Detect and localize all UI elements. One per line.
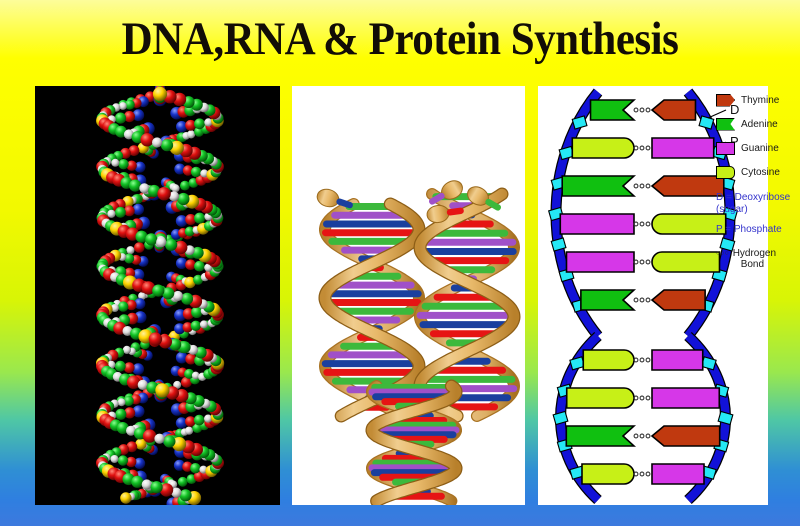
atom-H bbox=[138, 380, 148, 390]
atom-O bbox=[143, 429, 156, 442]
dna-replication-illustration bbox=[292, 86, 525, 505]
atom-O bbox=[185, 259, 196, 270]
atom-C bbox=[194, 261, 205, 272]
atom-O bbox=[141, 133, 154, 146]
atom-C bbox=[165, 239, 177, 251]
atom-C bbox=[181, 293, 193, 305]
legend-note: (sugar) bbox=[716, 204, 800, 216]
legend-swatch bbox=[716, 166, 735, 179]
base-round-tab bbox=[652, 252, 719, 272]
atom-C bbox=[178, 477, 188, 487]
legend-label: Guanine bbox=[741, 143, 779, 154]
atom-H bbox=[152, 137, 162, 147]
base-round-tab bbox=[572, 138, 634, 158]
atom-C bbox=[180, 489, 192, 501]
base-arrow-notch bbox=[562, 176, 634, 196]
atom-C bbox=[190, 463, 200, 473]
base-flat-tab bbox=[652, 350, 703, 370]
atom-H bbox=[185, 427, 193, 435]
atom-H bbox=[156, 237, 166, 247]
atom-C bbox=[115, 113, 126, 124]
base-round-tab bbox=[582, 464, 634, 484]
dna-helix bbox=[420, 194, 514, 416]
atom-H bbox=[187, 130, 195, 138]
hydrogen-bond-line2: Bond bbox=[741, 259, 776, 270]
atom-C bbox=[152, 285, 164, 297]
atom-C bbox=[118, 301, 128, 311]
legend-swatch bbox=[716, 94, 735, 107]
atom-H bbox=[107, 210, 115, 218]
base-round-tab bbox=[583, 350, 634, 370]
legend-item-cytosine: Cytosine bbox=[716, 162, 800, 182]
atom-C bbox=[151, 481, 163, 493]
legend-notes: D = Deoxyribose(sugar)P = Phosphate bbox=[716, 192, 800, 236]
base-arrow-point bbox=[652, 290, 705, 310]
legend-label: Cytosine bbox=[741, 167, 780, 178]
atom-C bbox=[145, 233, 157, 245]
legend-item-adenine: Adenine bbox=[716, 114, 800, 134]
atom-H bbox=[139, 183, 149, 193]
panel-molecular-model bbox=[35, 86, 280, 505]
legend-panel: ThymineAdenineGuanineCytosineD = Deoxyri… bbox=[716, 90, 800, 270]
atom-H bbox=[142, 479, 152, 489]
hydrogen-bond-dots: ○○○ bbox=[716, 248, 729, 260]
atom-P bbox=[153, 87, 167, 101]
legend-swatch bbox=[716, 142, 735, 155]
hydrogen-bond-text: HydrogenBond bbox=[733, 248, 776, 270]
atom-P bbox=[120, 492, 131, 503]
legend-swatch bbox=[716, 118, 735, 131]
atom-H bbox=[111, 159, 119, 167]
hydrogen-bond-line1: Hydrogen bbox=[733, 248, 776, 259]
atom-C bbox=[191, 167, 201, 177]
base-round-tab bbox=[567, 388, 634, 408]
atom-C bbox=[129, 180, 141, 192]
legend-hydrogen-bond: ○○○HydrogenBond bbox=[716, 248, 800, 270]
panel-replication bbox=[292, 86, 525, 505]
page-title: DNA,RNA & Protein Synthesis bbox=[122, 13, 679, 66]
atom-C bbox=[118, 159, 128, 169]
atom-C bbox=[161, 139, 173, 151]
atom-C bbox=[131, 476, 143, 488]
atom-C bbox=[115, 207, 126, 218]
legend-note: P = Phosphate bbox=[716, 224, 800, 236]
legend-label: Adenine bbox=[741, 119, 778, 130]
atom-C bbox=[194, 118, 205, 129]
legend-item-guanine: Guanine bbox=[716, 138, 800, 158]
base-flat-tab bbox=[567, 252, 634, 272]
atom-H bbox=[126, 246, 134, 254]
legend-note: D = Deoxyribose bbox=[716, 192, 800, 204]
poster-canvas: DNA,RNA & Protein Synthesis bbox=[0, 0, 800, 526]
atom-H bbox=[172, 184, 180, 192]
atom-C bbox=[177, 193, 189, 205]
base-round-tab bbox=[652, 214, 726, 234]
base-arrow-point bbox=[652, 426, 720, 446]
atom-C bbox=[191, 321, 201, 331]
base-arrow-notch bbox=[566, 426, 634, 446]
atom-C bbox=[115, 409, 126, 420]
base-flat-tab bbox=[652, 388, 719, 408]
legend-label: Thymine bbox=[741, 95, 779, 106]
atom-C bbox=[115, 361, 126, 372]
atom-H bbox=[154, 434, 164, 444]
atom-P bbox=[155, 383, 169, 397]
atom-O bbox=[157, 187, 170, 200]
atom-H bbox=[111, 455, 119, 463]
atom-C bbox=[163, 435, 175, 447]
dna-helix bbox=[372, 386, 456, 501]
base-flat-tab bbox=[652, 464, 704, 484]
atom-H bbox=[119, 102, 127, 110]
base-flat-tab bbox=[560, 214, 634, 234]
atom-C bbox=[194, 415, 205, 426]
atom-H bbox=[118, 398, 126, 406]
atom-O bbox=[149, 332, 162, 345]
base-flat-tab bbox=[652, 138, 714, 158]
atom-O bbox=[134, 242, 145, 253]
atom-H bbox=[173, 291, 183, 301]
atom-C bbox=[194, 213, 205, 224]
atom-C bbox=[118, 455, 128, 465]
base-arrow-point bbox=[652, 176, 724, 196]
atom-H bbox=[200, 320, 208, 328]
space-filling-dna-model bbox=[35, 86, 280, 505]
title-bar: DNA,RNA & Protein Synthesis bbox=[0, 0, 800, 78]
atom-C bbox=[180, 181, 190, 191]
legend-item-thymine: Thymine bbox=[716, 90, 800, 110]
